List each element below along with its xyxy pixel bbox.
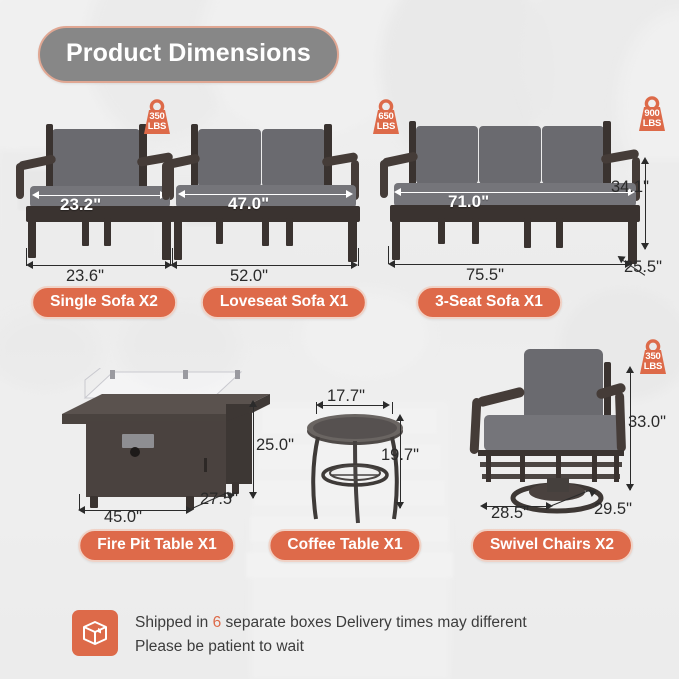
label-fire-pit-table: Fire Pit Table X1 xyxy=(78,529,235,562)
coffee-table-diameter: 17.7" xyxy=(327,387,365,406)
label-swivel-chairs: Swivel Chairs X2 xyxy=(471,529,633,562)
product-dimensions-infographic: Product Dimensions 23.2" 23.6" xyxy=(0,0,679,679)
swivel-chair-width: 28.5" xyxy=(491,504,529,523)
label-loveseat-sofa: Loveseat Sofa X1 xyxy=(201,286,367,319)
single-sofa-overall-width: 23.6" xyxy=(66,267,104,286)
shipping-line2: Please be patient to wait xyxy=(135,635,527,659)
three-seat-seat-width: 71.0" xyxy=(448,192,489,212)
single-sofa-weight-badge: 350LBS xyxy=(137,99,177,139)
shipping-line1-before: Shipped in xyxy=(135,614,213,631)
fire-pit-width: 45.0" xyxy=(104,508,142,527)
loveseat-weight-badge: 650LBS xyxy=(366,99,406,139)
coffee-table-height: 19.7" xyxy=(381,446,419,465)
label-three-seat-sofa: 3-Seat Sofa X1 xyxy=(416,286,562,319)
weight-unit: LBS xyxy=(377,121,395,132)
package-box-icon xyxy=(72,610,118,656)
label-single-sofa: Single Sofa X2 xyxy=(31,286,177,319)
fire-pit-height: 25.0" xyxy=(256,436,294,455)
label-coffee-table: Coffee Table X1 xyxy=(268,529,421,562)
swivel-chair-depth: 29.5" xyxy=(594,500,632,519)
three-seat-depth: 25.5" xyxy=(624,258,662,277)
shipping-line1-after: separate boxes Delivery times may differ… xyxy=(221,614,527,631)
weight-unit: LBS xyxy=(148,121,166,132)
fire-pit-depth: 27.5" xyxy=(200,490,238,509)
swivel-chair-height: 33.0" xyxy=(628,413,666,432)
loveseat-overall-width: 52.0" xyxy=(230,267,268,286)
shipping-note: Shipped in 6 separate boxes Delivery tim… xyxy=(72,610,527,659)
shipping-box-count: 6 xyxy=(213,614,222,631)
background-photo xyxy=(0,0,679,679)
weight-unit: LBS xyxy=(643,118,661,129)
weight-unit: LBS xyxy=(644,361,662,372)
single-sofa-seat-width: 23.2" xyxy=(60,195,101,215)
shipping-note-text: Shipped in 6 separate boxes Delivery tim… xyxy=(135,610,527,659)
three-seat-weight-badge: 900LBS xyxy=(632,96,672,136)
loveseat-seat-width: 47.0" xyxy=(228,194,269,214)
three-seat-height: 34.1" xyxy=(611,178,649,197)
page-title: Product Dimensions xyxy=(38,26,339,83)
swivel-chair-weight-badge: 350LBS xyxy=(633,339,673,379)
three-seat-overall-width: 75.5" xyxy=(466,266,504,285)
